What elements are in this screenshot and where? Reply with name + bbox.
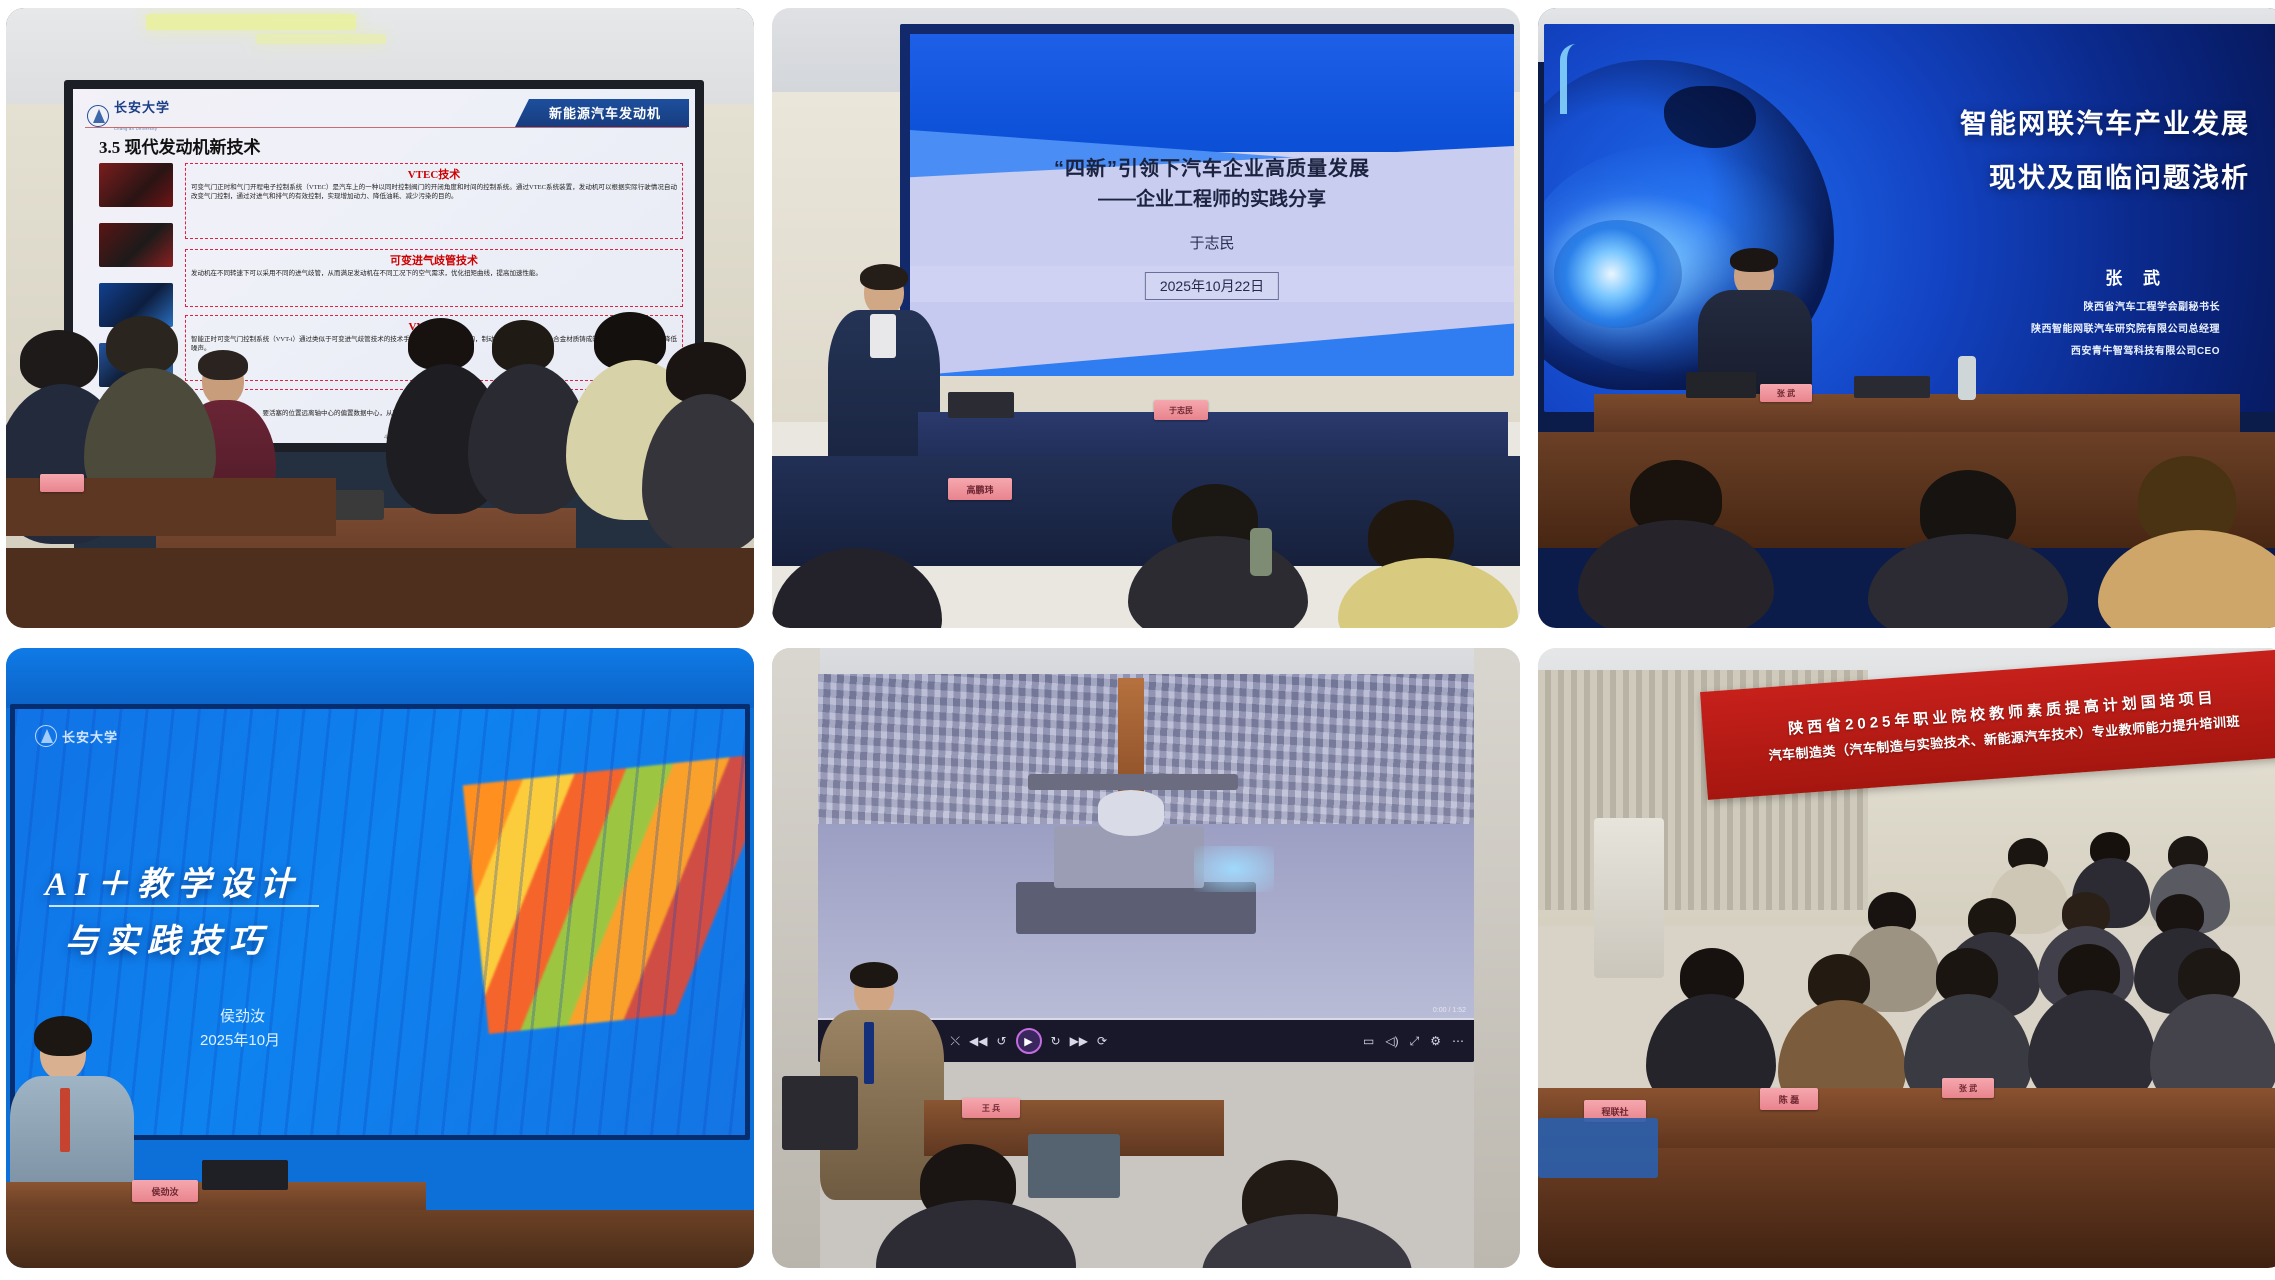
projection-screen: 0:00 / 1:52 大学生方程式电车_FSE... ⤬ ◀◀ ↺ ▶ ↻ ▶…	[818, 674, 1474, 1062]
attendee-body	[876, 1200, 1076, 1268]
slide-divider	[85, 127, 687, 128]
nameplate: 侯劲汝	[132, 1180, 198, 1202]
slide-affiliation: 陕西智能网联汽车研究院有限公司总经理	[2031, 320, 2220, 335]
slide-block: VTEC技术 可变气门正时和气门开程电子控制系统（VTEC）是汽车上的一种以同时…	[185, 163, 683, 239]
photo-cell-top-right[interactable]: 智能网联汽车产业发展 现状及面临问题浅析 张 武 陕西省汽车工程学会副秘书长 陕…	[1538, 8, 2275, 628]
slide-intelligent-connected-vehicles: 智能网联汽车产业发展 现状及面临问题浅析 张 武 陕西省汽车工程学会副秘书长 陕…	[1544, 24, 2275, 412]
water-bottle	[1250, 528, 1272, 576]
engine-photo-thumb	[99, 223, 173, 267]
projection-screen: “四新”引领下汽车企业高质量发展 ——企业工程师的实践分享 于志民 2025年1…	[900, 24, 1514, 376]
air-conditioner	[1594, 818, 1664, 978]
block-heading: VTEC技术	[186, 166, 682, 182]
nameplate: 张 武	[1942, 1078, 1994, 1098]
speaker-shirt	[870, 314, 896, 358]
slide-title: 3.5 现代发动机新技术	[99, 133, 261, 158]
slide-presenter: 张 武	[2105, 264, 2168, 289]
machine-glow	[1194, 846, 1274, 892]
attendee-head	[408, 318, 474, 370]
slide-ai-teaching-design: 长安大学 AI＋教学设计 与实践技巧 侯劲汝 2025年10月	[15, 709, 745, 1135]
forward-icon[interactable]: ↻	[1051, 1035, 1061, 1047]
engine-photo-thumb	[99, 163, 173, 207]
photo-cell-bottom-left[interactable]: 长安大学 AI＋教学设计 与实践技巧 侯劲汝 2025年10月 侯劲汝	[6, 648, 754, 1268]
lanyard	[864, 1022, 874, 1084]
slide-header-banner: 新能源汽车发动机	[515, 99, 689, 127]
slide-title-line2: ——企业工程师的实践分享	[910, 184, 1514, 211]
left-wall	[772, 648, 820, 1268]
shuffle-icon[interactable]: ⤬	[950, 1035, 960, 1047]
video-scene	[818, 674, 1474, 1020]
speaker-hair	[1730, 248, 1778, 272]
photo-cell-top-center[interactable]: “四新”引领下汽车企业高质量发展 ——企业工程师的实践分享 于志民 2025年1…	[772, 8, 1520, 628]
ceiling	[6, 648, 754, 708]
university-logo: 长安大学	[35, 725, 118, 747]
slide-title-line1: AI＋教学设计	[45, 857, 301, 905]
document-folder	[1538, 1118, 1658, 1178]
light-strip	[1560, 44, 1620, 114]
slide-affiliation: 西安青牛智驾科技有限公司CEO	[2071, 342, 2220, 357]
slide-date: 2025年10月22日	[1145, 272, 1279, 300]
chair	[1028, 1134, 1120, 1198]
next-track-icon[interactable]: ▶▶	[1070, 1035, 1088, 1047]
audience-desk	[6, 548, 754, 628]
water-bottle	[1958, 356, 1976, 400]
attendee-head	[106, 316, 178, 374]
speaker-hair	[860, 264, 908, 290]
lanyard	[60, 1088, 70, 1152]
university-logo: 长安大学 Chang'an University	[87, 97, 170, 135]
block-body: 发动机在不同转速下可以采用不同的进气歧管，从而满足发动机在不同工况下的空气需求，…	[186, 269, 682, 281]
slide-title-line1: 智能网联汽车产业发展	[1960, 102, 2250, 141]
university-emblem-icon	[35, 725, 57, 747]
presenter-hair	[34, 1016, 92, 1056]
rewind-icon[interactable]: ↺	[996, 1035, 1006, 1047]
subtitles-icon[interactable]: ▭	[1363, 1035, 1374, 1047]
slide-underline	[49, 905, 319, 907]
video-right-controls[interactable]: ▭ ◁) ⤢ ⚙ ⋯	[1363, 1035, 1464, 1047]
laptop	[202, 1160, 288, 1190]
machine-arm	[1028, 774, 1238, 790]
nameplate: 张 武	[1760, 384, 1812, 402]
slide-presenter: 于志民	[910, 232, 1514, 253]
slide-title-line2: 与实践技巧	[65, 914, 270, 962]
volume-icon[interactable]: ◁)	[1385, 1035, 1398, 1047]
slide-date: 2025年10月	[200, 1029, 280, 1050]
equipment-case	[782, 1076, 858, 1150]
nameplate: 陈 磊	[1760, 1088, 1818, 1110]
repeat-icon[interactable]: ⟳	[1097, 1035, 1107, 1047]
attendee-body	[1202, 1214, 1412, 1268]
documents	[1854, 376, 1930, 398]
attendee-head	[20, 330, 98, 390]
nameplate	[40, 474, 84, 492]
speaker-hair	[850, 962, 898, 988]
settings-icon[interactable]: ⚙	[1430, 1035, 1441, 1047]
led-display-wall: 智能网联汽车产业发展 现状及面临问题浅析 张 武 陕西省汽车工程学会副秘书长 陕…	[1544, 24, 2275, 412]
block-heading: 可变进气歧管技术	[186, 252, 682, 268]
slide-title-page: “四新”引领下汽车企业高质量发展 ——企业工程师的实践分享 于志民 2025年1…	[910, 34, 1514, 376]
video-time: 0:00 / 1:52	[1433, 1007, 1466, 1014]
audience	[6, 298, 754, 628]
right-wall	[1474, 648, 1520, 1268]
play-icon[interactable]: ▶	[1016, 1028, 1042, 1054]
attendee-body	[1338, 558, 1518, 628]
previous-track-icon[interactable]: ◀◀	[969, 1035, 987, 1047]
logo-text: 长安大学	[62, 727, 118, 746]
more-icon[interactable]: ⋯	[1452, 1035, 1464, 1047]
machine-cylinder	[1098, 790, 1164, 836]
photo-cell-bottom-center[interactable]: 0:00 / 1:52 大学生方程式电车_FSE... ⤬ ◀◀ ↺ ▶ ↻ ▶…	[772, 648, 1520, 1268]
attendee-body	[1868, 534, 2068, 628]
ceiling-light	[146, 14, 356, 30]
nameplate: 于志民	[1154, 400, 1208, 420]
photo-cell-bottom-right[interactable]: 陕西省2025年职业院校教师素质提高计划国培项目 汽车制造类（汽车制造与实验技术…	[1538, 648, 2275, 1268]
ceiling-light	[256, 34, 386, 44]
fullscreen-icon[interactable]: ⤢	[1410, 1035, 1420, 1047]
laptop	[1686, 372, 1756, 398]
slide-title-line1: “四新”引领下汽车企业高质量发展	[910, 152, 1514, 181]
machine-model	[998, 786, 1278, 946]
desk-front	[6, 1210, 754, 1268]
photo-grid: 长安大学 Chang'an University 新能源汽车发动机 3.5 现代…	[0, 0, 2275, 1280]
slide-title-line2: 现状及面临问题浅析	[1989, 156, 2250, 195]
led-display-wall: 长安大学 AI＋教学设计 与实践技巧 侯劲汝 2025年10月	[10, 704, 750, 1140]
logo-text: 长安大学	[114, 100, 170, 115]
slide-top-band	[910, 34, 1514, 152]
nameplate: 高鹏玮	[948, 478, 1012, 500]
block-body: 可变气门正时和气门开程电子控制系统（VTEC）是汽车上的一种以同时控制阀门的开闭…	[186, 183, 682, 205]
slide-affiliation: 陕西省汽车工程学会副秘书长	[2084, 298, 2221, 313]
photo-cell-top-left[interactable]: 长安大学 Chang'an University 新能源汽车发动机 3.5 现代…	[6, 8, 754, 628]
car-headlight	[1554, 220, 1682, 328]
laptop	[948, 392, 1014, 418]
university-emblem-icon	[87, 105, 109, 127]
slide-presenter: 侯劲汝	[220, 1005, 265, 1026]
nameplate: 王 兵	[962, 1098, 1020, 1118]
